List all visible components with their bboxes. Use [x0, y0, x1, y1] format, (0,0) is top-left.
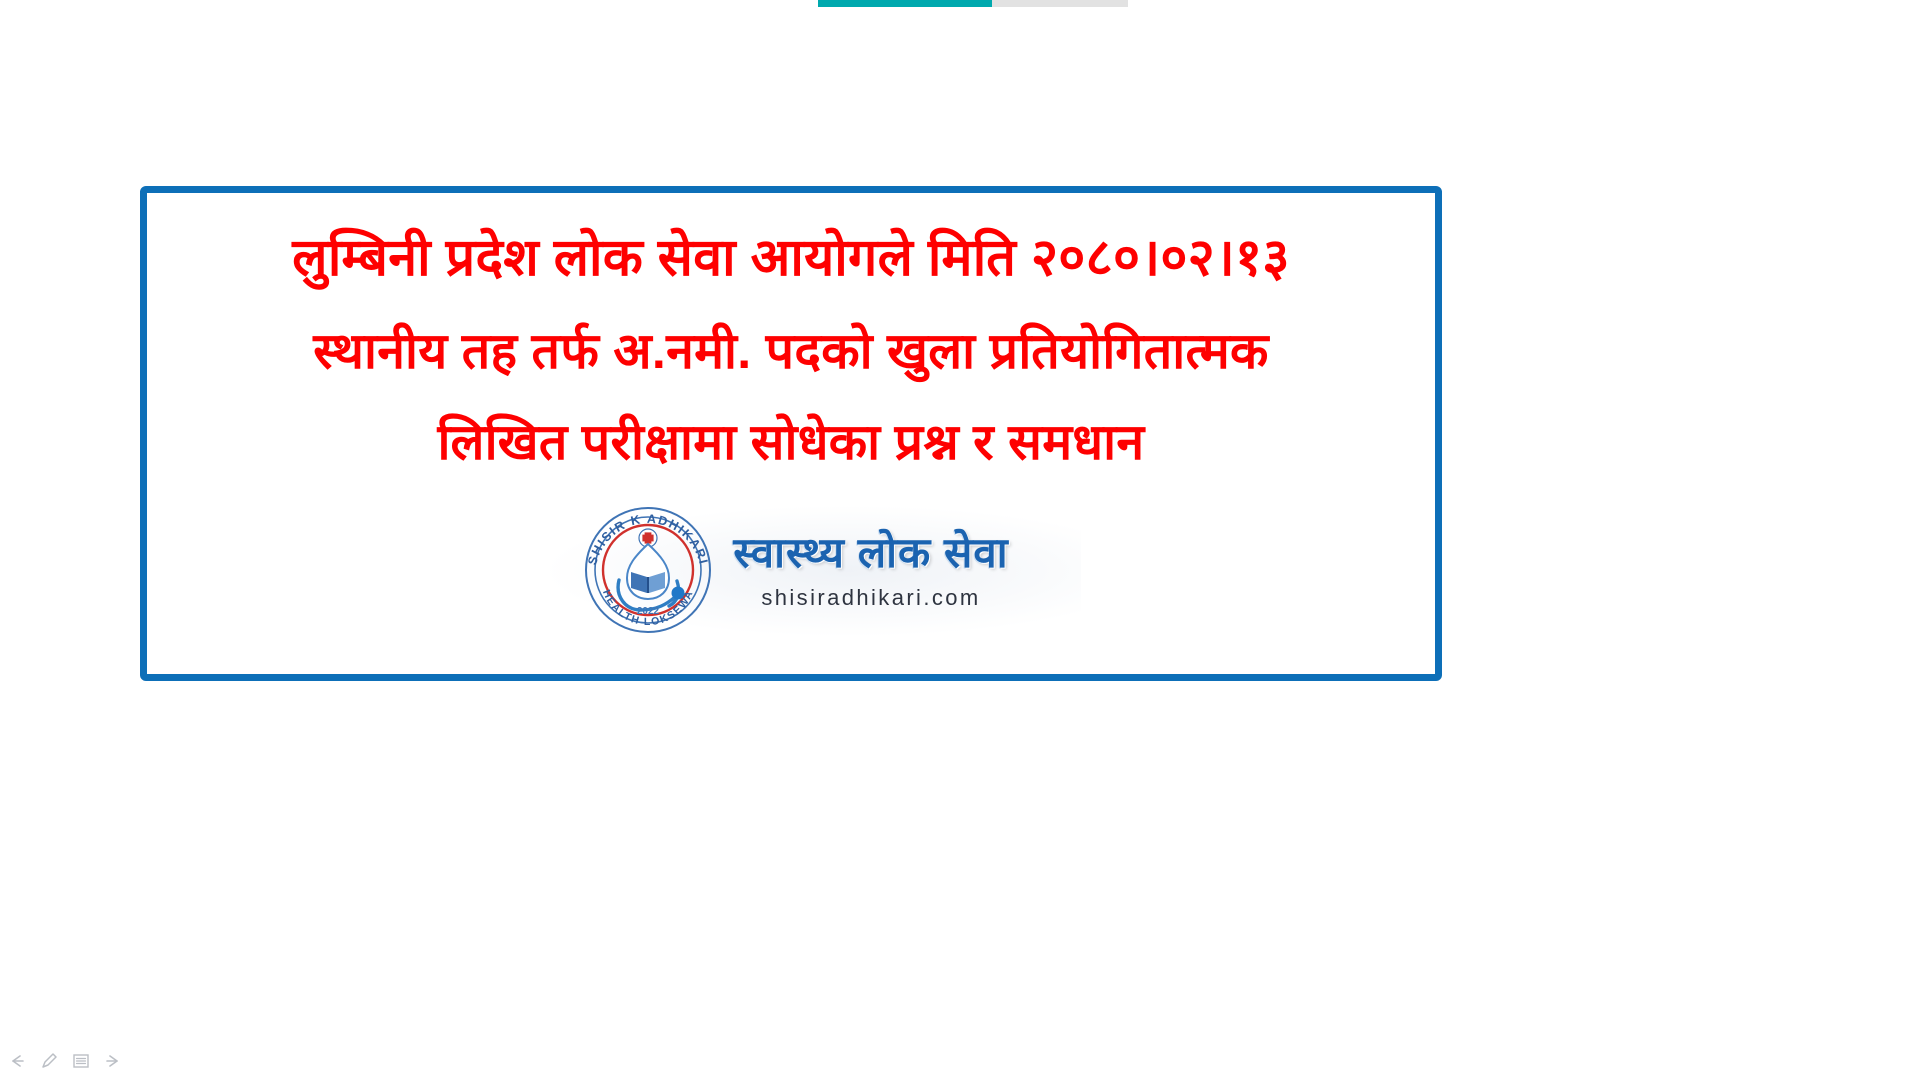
- viewer-toolbar: [8, 1052, 122, 1070]
- slide-headline: लुम्बिनी प्रदेश लोक सेवा आयोगले मिति २०८…: [171, 211, 1411, 488]
- brand-name-nepali: स्वास्थ्य लोक सेवा: [733, 531, 1008, 575]
- list-icon[interactable]: [72, 1052, 90, 1070]
- headline-line-3: लिखित परीक्षामा सोधेका प्रश्न र समधान: [171, 397, 1411, 488]
- slide-progress-bar[interactable]: [818, 0, 1128, 7]
- svg-text:2022: 2022: [637, 606, 660, 617]
- slide-card: लुम्बिनी प्रदेश लोक सेवा आयोगले मिति २०८…: [140, 186, 1442, 681]
- headline-line-2: स्थानीय तह तर्फ अ.नमी. पदको खुला प्रतियो…: [171, 306, 1411, 397]
- brand-wordmark: स्वास्थ्य लोक सेवा shisiradhikari.com: [733, 531, 1008, 611]
- arrow-right-icon[interactable]: [104, 1052, 122, 1070]
- pencil-icon[interactable]: [40, 1052, 58, 1070]
- slide-progress-fill: [818, 0, 992, 7]
- headline-line-1: लुम्बिनी प्रदेश लोक सेवा आयोगले मिति २०८…: [171, 211, 1411, 306]
- seal-emblem-icon: SHISIR K ADHIKARI HEALTH LOKSEWA: [573, 498, 723, 643]
- brand-website: shisiradhikari.com: [761, 585, 980, 611]
- arrow-left-icon[interactable]: [8, 1052, 26, 1070]
- brand-logo: SHISIR K ADHIKARI HEALTH LOKSEWA: [501, 496, 1081, 646]
